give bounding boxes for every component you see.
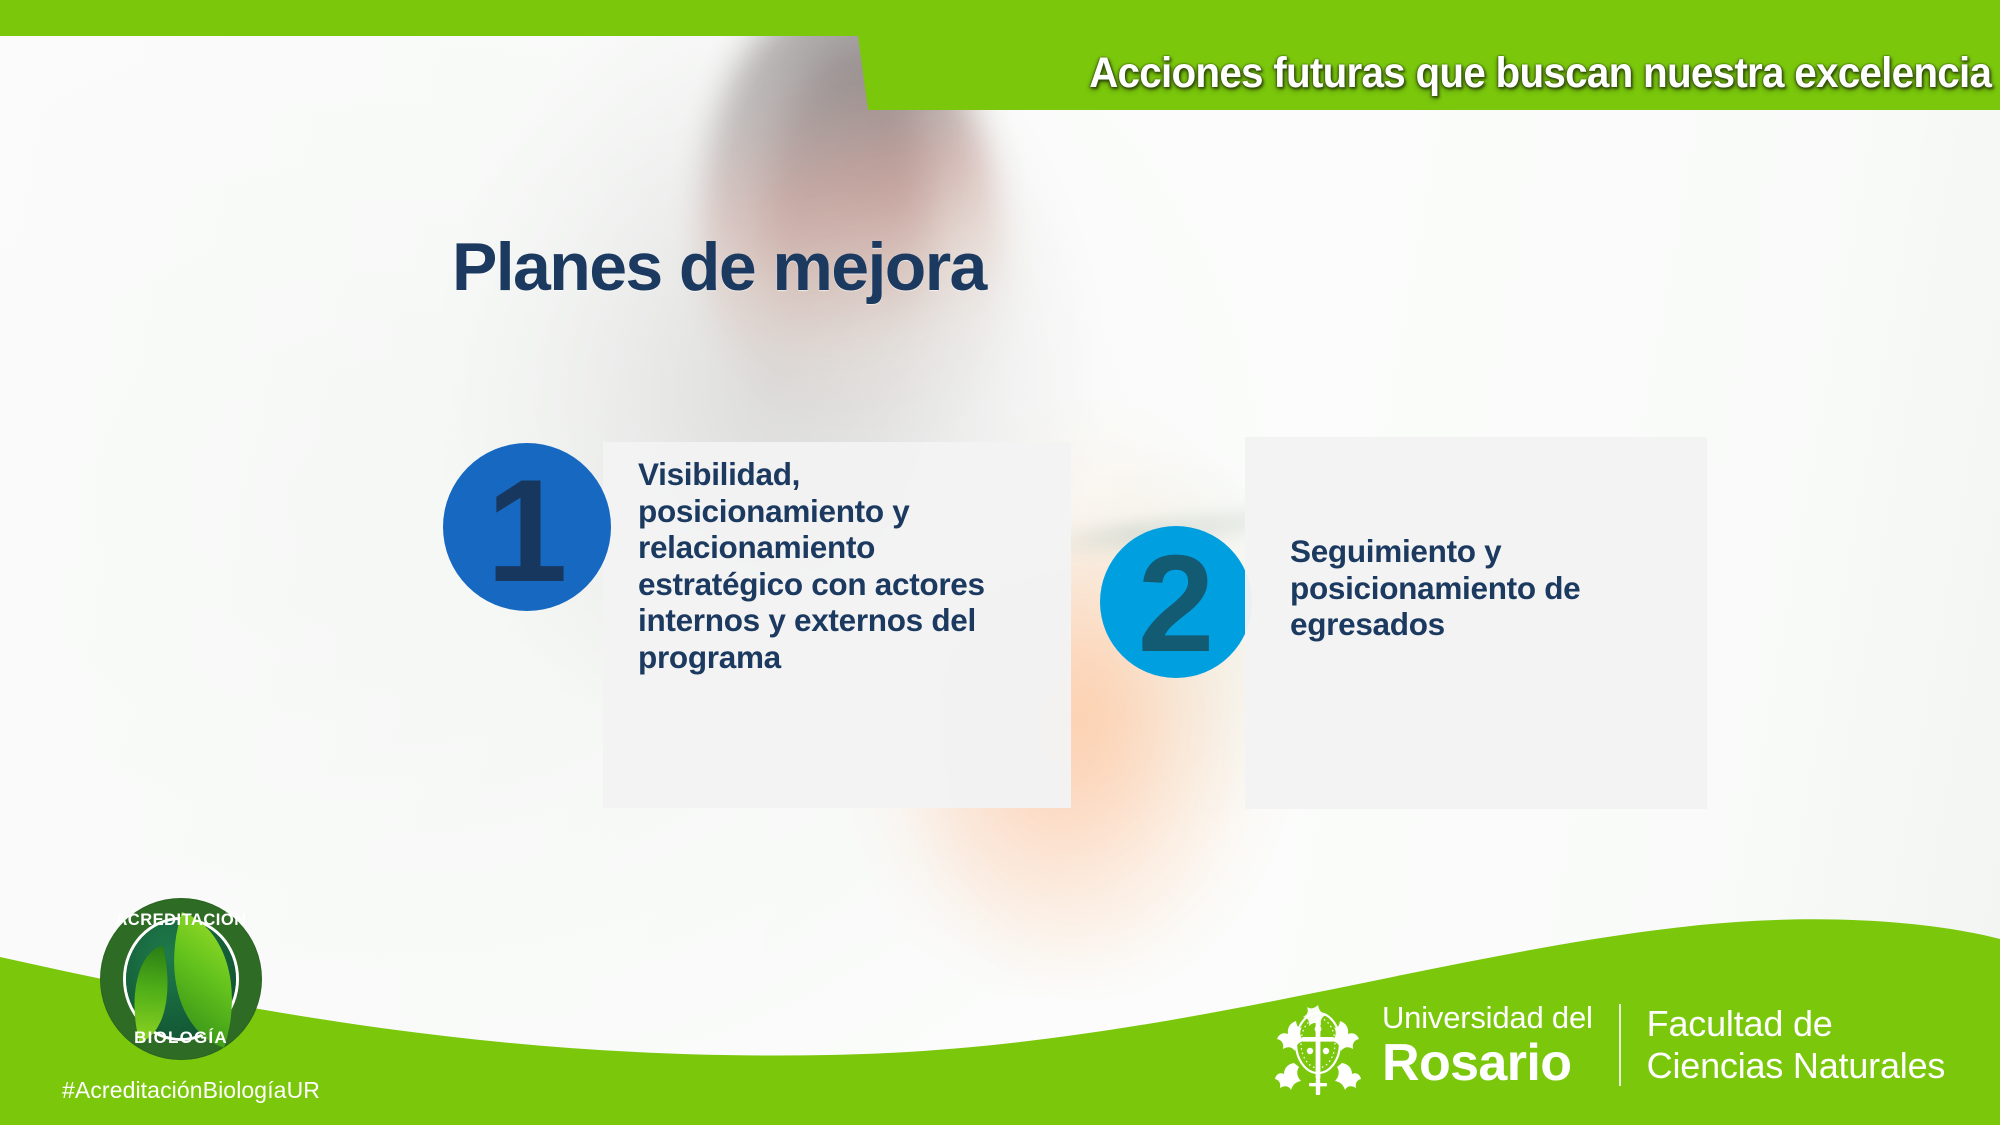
faculty-name-line2: Ciencias Naturales <box>1647 1045 1946 1087</box>
plan-card-1-number: 1 <box>486 458 567 604</box>
slide: Acciones futuras que buscan nuestra exce… <box>0 0 2000 1125</box>
faculty-name: Facultad de Ciencias Naturales <box>1647 1003 1946 1088</box>
seal-bottom-label-text: BIOLOGÍA <box>134 1028 228 1048</box>
faculty-name-line1: Facultad de <box>1647 1003 1946 1045</box>
plan-card-1-text: Visibilidad, posicionamiento y relaciona… <box>638 456 1038 675</box>
logo-divider <box>1619 1004 1621 1086</box>
university-name-line2: Rosario <box>1382 1037 1593 1089</box>
university-name-line1: Universidad del <box>1382 1002 1593 1033</box>
seal-bottom-label: BIOLOGÍA <box>100 1028 262 1048</box>
rosario-crest-icon <box>1272 991 1364 1099</box>
plan-card-2-text: Seguimiento y posicionamiento de egresad… <box>1290 533 1680 643</box>
plan-card-1-badge: 1 <box>443 443 611 611</box>
hashtag-label: #AcreditaciónBiologíaUR <box>62 1077 320 1104</box>
header-banner-text: Acciones futuras que buscan nuestra exce… <box>120 36 1995 110</box>
seal-top-label-text: ACREDITACIÓN <box>115 911 246 930</box>
plan-card-2-number: 2 <box>1138 535 1215 673</box>
plan-card-2-badge: 2 <box>1100 526 1252 678</box>
accreditation-seal: ACREDITACIÓN BIOLOGÍA <box>100 898 262 1060</box>
university-name: Universidad del Rosario <box>1382 1002 1593 1089</box>
seal-top-label: ACREDITACIÓN <box>100 911 262 930</box>
page-title: Planes de mejora <box>452 228 986 306</box>
university-logo: Universidad del Rosario Facultad de Cien… <box>1272 990 1945 1100</box>
